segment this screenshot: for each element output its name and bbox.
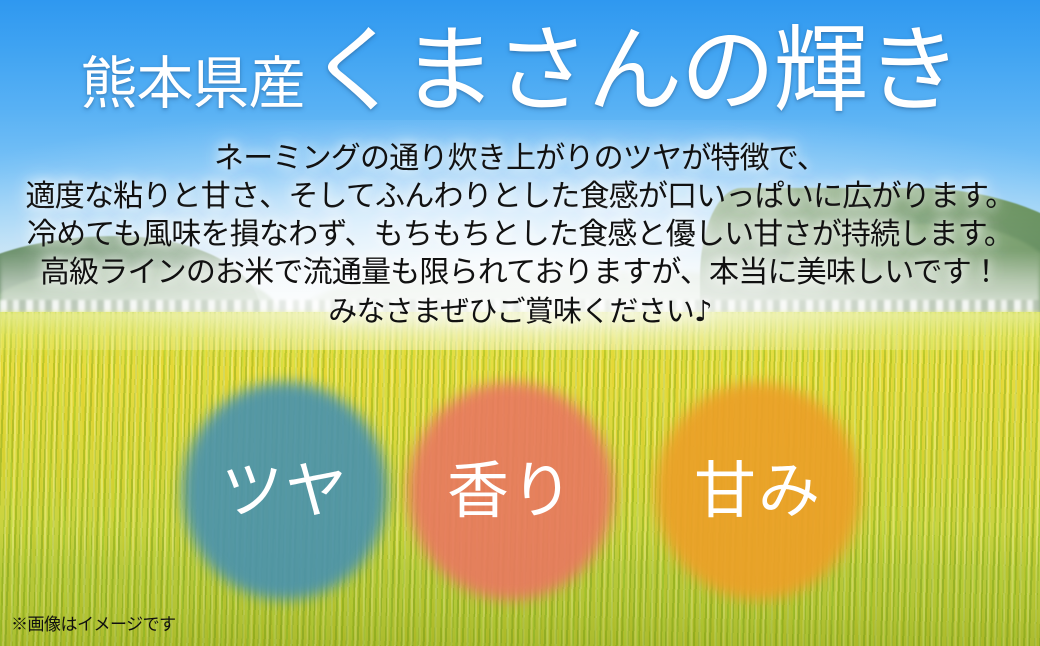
description-line-5: みなさまぜひご賞味ください♪: [0, 292, 1040, 330]
feature-label-tsuya: ツヤ: [182, 382, 388, 600]
description-block: ネーミングの通り炊き上がりのツヤが特徴で、 適度な粘りと甘さ、そしてふんわりとし…: [0, 140, 1040, 330]
feature-label-amami: 甘み: [655, 382, 861, 600]
description-line-2: 適度な粘りと甘さ、そしてふんわりとした食感が口いっぱいに広がります。: [0, 178, 1040, 216]
description-line-4: 高級ラインのお米で流通量も限られておりますが、本当に美味しいです！: [0, 254, 1040, 292]
description-line-1: ネーミングの通り炊き上がりのツヤが特徴で、: [0, 140, 1040, 178]
title-prefecture: 熊本県産: [80, 56, 304, 113]
title-brand: くまさんの輝き: [308, 24, 959, 119]
feature-label-kaori: 香り: [408, 382, 614, 600]
rice-product-poster: 熊本県産 くまさんの輝き ネーミングの通り炊き上がりのツヤが特徴で、 適度な粘り…: [0, 0, 1040, 646]
description-line-3: 冷めても風味を損なわず、もちもちとした食感と優しい甘さが持続します。: [0, 216, 1040, 254]
page-title: 熊本県産 くまさんの輝き: [0, 24, 1040, 119]
image-disclaimer-note: ※画像はイメージです: [11, 617, 176, 634]
